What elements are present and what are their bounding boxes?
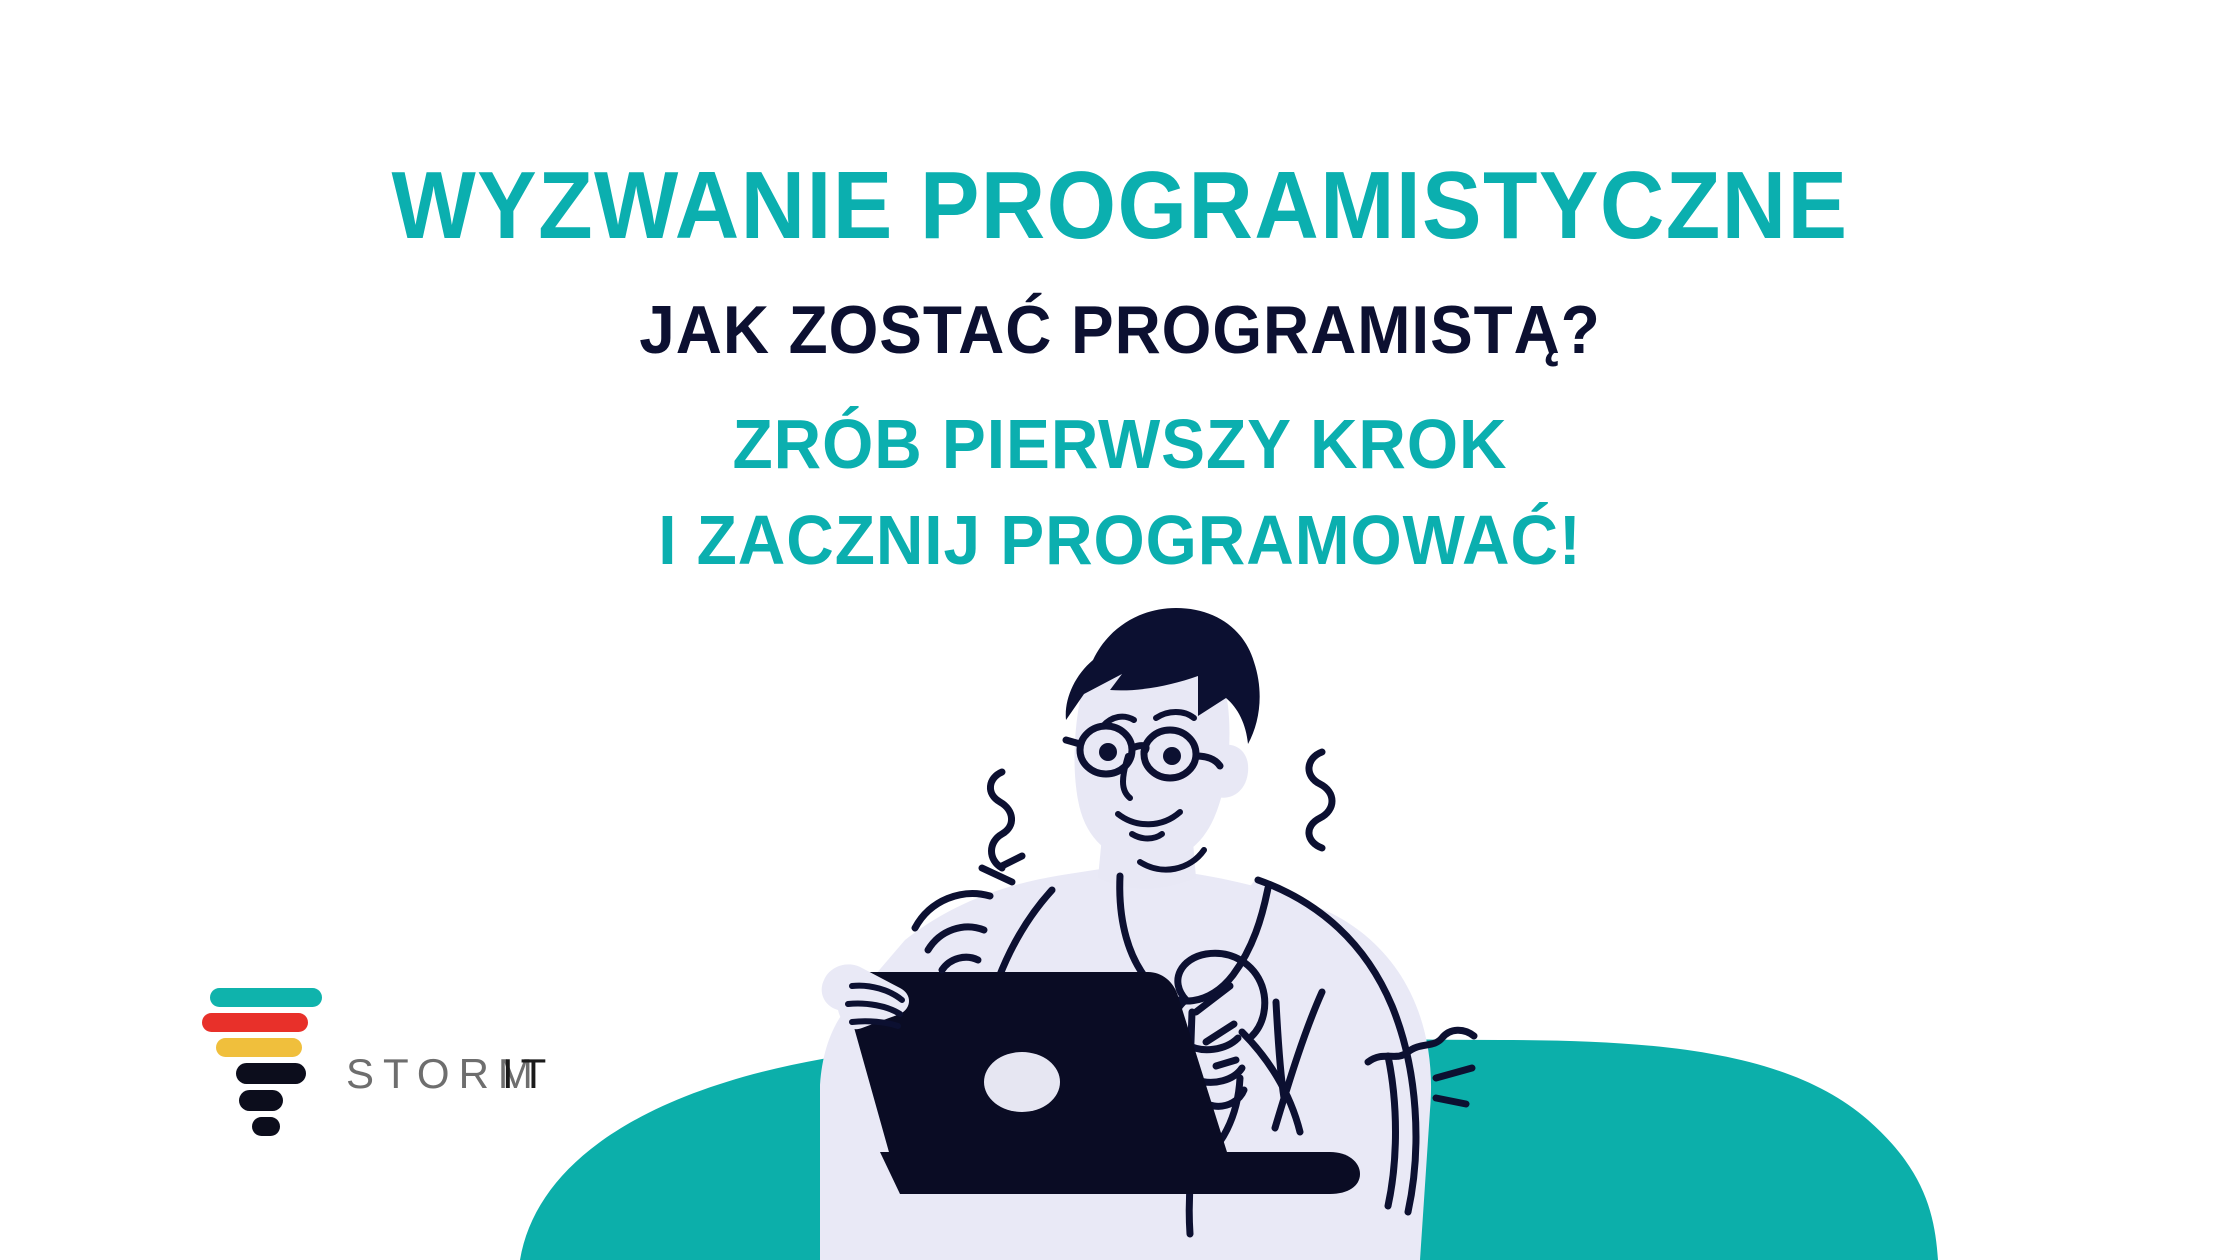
storm-funnel-mark bbox=[202, 988, 322, 1136]
eye-right bbox=[1163, 747, 1181, 765]
bar-teal bbox=[210, 988, 322, 1007]
bar-dark-1 bbox=[236, 1063, 306, 1084]
poster-canvas: WYZWANIE PROGRAMISTYCZNE JAK ZOSTAĆ PROG… bbox=[0, 0, 2240, 1260]
storm-it-logo[interactable]: STORM IT bbox=[196, 980, 576, 1140]
bar-yellow bbox=[216, 1038, 302, 1057]
headline-line-2: JAK ZOSTAĆ PROGRAMISTĄ? bbox=[67, 292, 2173, 368]
bar-dark-2 bbox=[239, 1090, 283, 1111]
storm-it-logo-svg: STORM IT bbox=[196, 980, 576, 1140]
bar-dark-3 bbox=[252, 1117, 280, 1136]
eye-left bbox=[1099, 743, 1117, 761]
laptop-logo bbox=[984, 1052, 1060, 1112]
headline-line-4: I ZACZNIJ PROGRAMOWAĆ! bbox=[67, 500, 2173, 580]
logo-wordmark-it: IT bbox=[502, 1050, 553, 1097]
headline-line-1: WYZWANIE PROGRAMISTYCZNE bbox=[78, 154, 2161, 258]
bar-red bbox=[202, 1013, 308, 1032]
headline-line-3: ZRÓB PIERWSZY KROK bbox=[67, 404, 2173, 484]
